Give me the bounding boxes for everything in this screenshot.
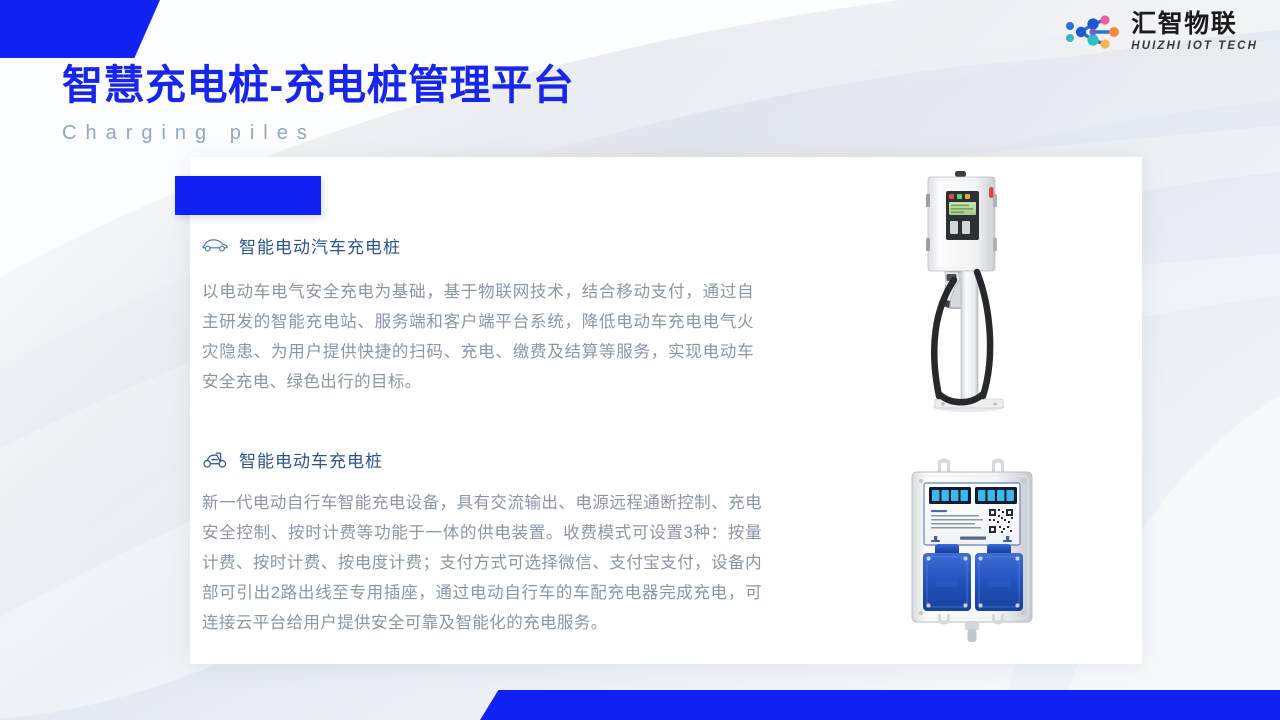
section-title: 智能电动汽车充电桩 bbox=[239, 233, 401, 258]
section-ev-charging-pile: 智能电动汽车充电桩 以电动车电气安全充电为基础，基于物联网技术，结合移动支付，通… bbox=[202, 232, 754, 397]
ebike-charging-box-photo bbox=[898, 455, 1046, 647]
section-title: 智能电动车充电桩 bbox=[239, 447, 383, 472]
section-header: 智能电动车充电桩 bbox=[202, 446, 762, 472]
bottom-right-accent-shape bbox=[480, 690, 1280, 720]
blue-tab-badge[interactable] bbox=[175, 176, 321, 215]
top-left-accent-shape bbox=[0, 0, 160, 58]
scooter-icon bbox=[202, 449, 228, 470]
slide-canvas: 智慧充电桩-充电桩管理平台 Charging piles 汇智物联 bbox=[0, 0, 1280, 720]
network-nodes-icon bbox=[1064, 12, 1122, 52]
ev-charging-pile-photo bbox=[905, 168, 1025, 420]
logo-text-block: 汇智物联 HUIZHI IOT TECH bbox=[1131, 12, 1258, 53]
page-subtitle: Charging piles bbox=[62, 122, 574, 145]
car-icon bbox=[202, 235, 228, 255]
section-ebike-charging-pile: 智能电动车充电桩 新一代电动自行车智能充电设备，具有交流输出、电源远程通断控制、… bbox=[202, 446, 762, 638]
section-header: 智能电动汽车充电桩 bbox=[202, 232, 754, 258]
logo-name-cn: 汇智物联 bbox=[1131, 12, 1258, 37]
logo-name-en: HUIZHI IOT TECH bbox=[1131, 41, 1258, 53]
page-title: 智慧充电桩-充电桩管理平台 bbox=[62, 62, 574, 109]
brand-logo: 汇智物联 HUIZHI IOT TECH bbox=[1064, 12, 1258, 53]
header-title-block: 智慧充电桩-充电桩管理平台 Charging piles bbox=[62, 62, 574, 145]
section-body-text: 新一代电动自行车智能充电设备，具有交流输出、电源远程通断控制、充电安全控制、按时… bbox=[202, 488, 762, 638]
section-body-text: 以电动车电气安全充电为基础，基于物联网技术，结合移动支付，通过自主研发的智能充电… bbox=[202, 277, 754, 397]
